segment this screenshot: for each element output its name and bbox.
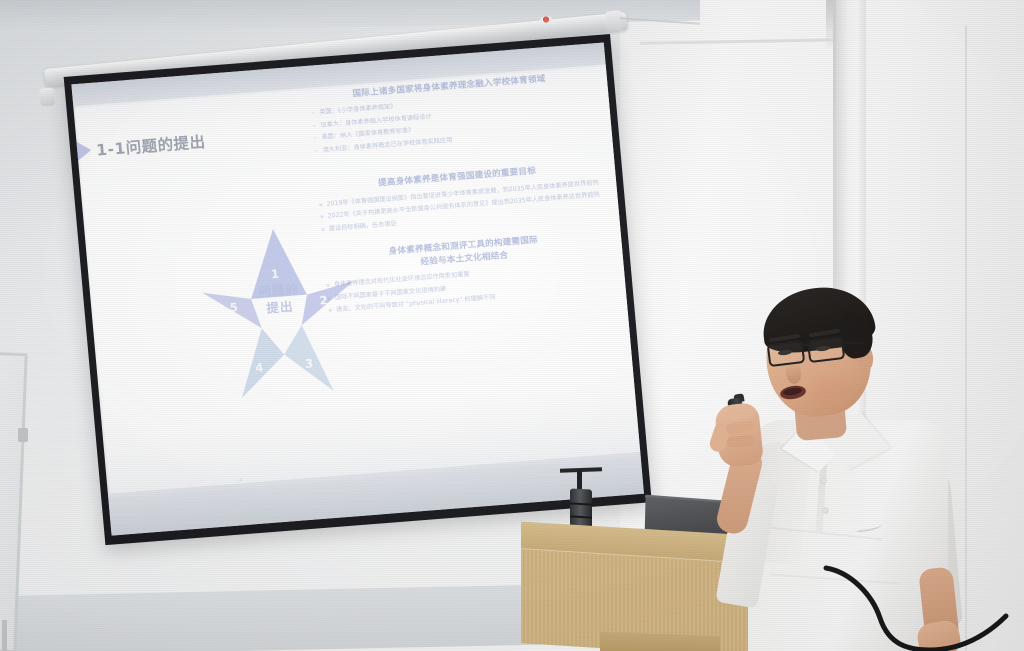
roller-end-cap-right: [605, 10, 623, 31]
whiteboard-leg: [2, 620, 7, 651]
shirt-button: [821, 478, 826, 483]
slide-text-blocks: 国际上诸多国家将身体素养理念融入学校体育领域 ➢ 英国：《小学身体素养框架》 ➢…: [305, 70, 613, 324]
shirt-button: [823, 508, 828, 513]
whiteboard-clip: [18, 428, 28, 442]
bullet-marker-icon: ▪: [328, 305, 333, 316]
slide-block-2: 提高身体素养是体育强国建设的重要目标 ▪ 2019年《体育强国建设纲要》指出要促…: [313, 160, 605, 235]
bullet-marker-icon: ➢: [310, 108, 315, 119]
slide-content: 1-1问题的提出 1 2 3 4: [77, 67, 636, 492]
bullet-marker-icon: ▪: [319, 199, 324, 210]
bullet-marker-icon: ▪: [327, 292, 332, 303]
star-number-4: 4: [255, 360, 264, 375]
glasses-lens-left: [767, 340, 806, 367]
bullet-marker-icon: ➢: [313, 133, 318, 144]
bullet-marker-icon: ➢: [314, 145, 319, 156]
floor: [0, 584, 560, 651]
slide-block-3: 身体素养概念和测评工具的构建需国际 经验与本土文化相结合 ▪ 身体素养理念对现代…: [319, 229, 612, 317]
power-cable: [820, 560, 1024, 651]
slide-title-row: 1-1问题的提出: [86, 126, 207, 165]
bullet-marker-icon: ▪: [320, 211, 325, 222]
glasses-lens-right: [807, 336, 846, 363]
lecture-photo-scene: 1-1问题的提出 1 2 3 4: [0, 0, 1024, 651]
bullet-marker-icon: ➢: [312, 120, 317, 131]
bullet-marker-icon: ▪: [326, 280, 331, 291]
presenter-cheek-highlight: [802, 370, 854, 410]
star-number-1: 1: [270, 267, 279, 282]
slide-page-number: 4: [239, 477, 242, 483]
roller-end-cap-left: [39, 87, 55, 106]
screen-surface: 1-1问题的提出 1 2 3 4: [71, 43, 644, 536]
bullet-marker-icon: ▪: [321, 224, 326, 235]
slide-title: 1-1问题的提出: [95, 130, 206, 161]
star-number-3: 3: [304, 356, 313, 371]
